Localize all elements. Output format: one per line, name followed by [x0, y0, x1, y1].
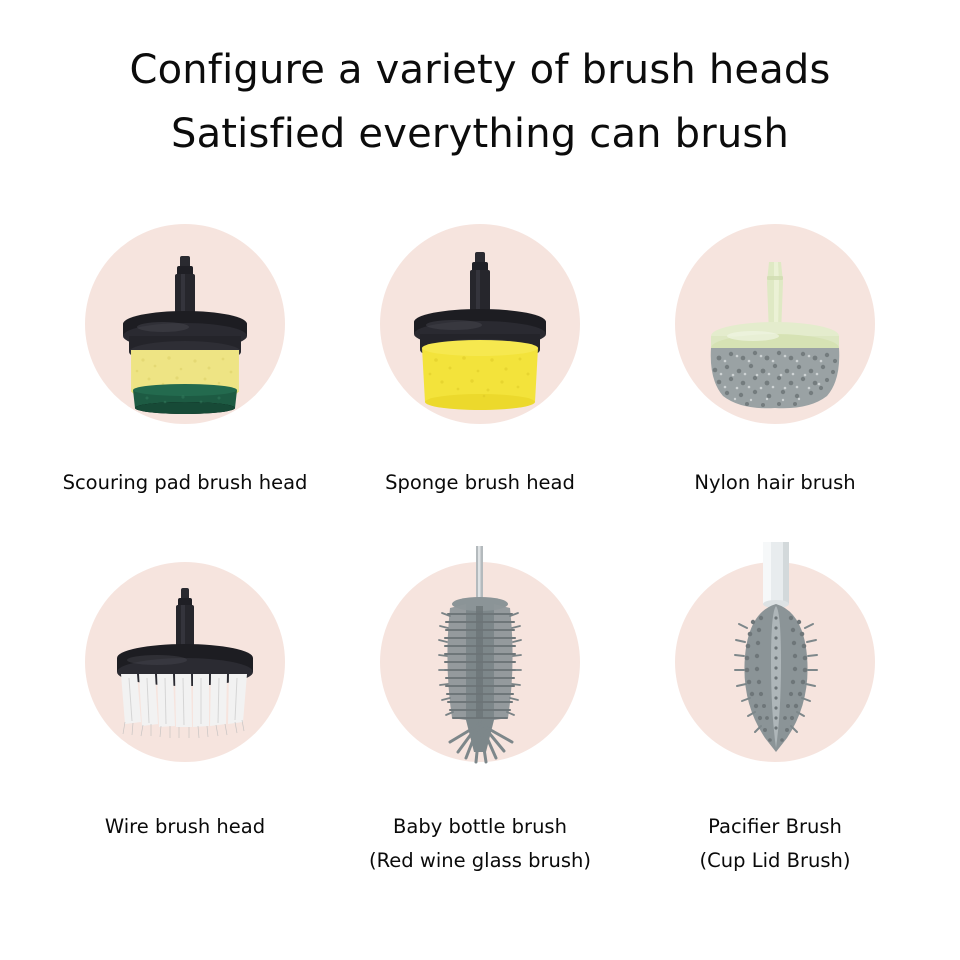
- product-image-circle: [675, 562, 875, 762]
- product-caption: Sponge brush head: [385, 466, 575, 500]
- pacifier-brush-icon: [675, 552, 875, 772]
- product-caption-main: Scouring pad brush head: [63, 471, 308, 494]
- nylon-hair-brush-icon: [675, 224, 875, 424]
- product-caption: Baby bottle brush (Red wine glass brush): [369, 810, 591, 878]
- page-title-line-1: Configure a variety of brush heads: [0, 44, 960, 96]
- product-cell-sponge: Sponge brush head: [333, 224, 628, 500]
- product-caption: Pacifier Brush (Cup Lid Brush): [700, 810, 851, 878]
- product-grid: Scouring pad brush head: [0, 224, 960, 878]
- product-caption: Wire brush head: [105, 810, 265, 844]
- product-image-circle: [85, 562, 285, 762]
- product-caption: Scouring pad brush head: [63, 466, 308, 500]
- product-caption: Nylon hair brush: [694, 466, 855, 500]
- heading-block: Configure a variety of brush heads Satis…: [0, 44, 960, 160]
- scouring-pad-brush-icon: [85, 224, 285, 424]
- product-row-bottom: Wire brush head: [0, 562, 960, 878]
- product-caption-sub: (Red wine glass brush): [369, 844, 591, 878]
- product-cell-pacifier: Pacifier Brush (Cup Lid Brush): [628, 562, 923, 878]
- product-image-circle: [380, 562, 580, 762]
- product-cell-scouring-pad: Scouring pad brush head: [38, 224, 333, 500]
- product-image-circle: [675, 224, 875, 424]
- product-caption-main: Wire brush head: [105, 815, 265, 838]
- product-caption-main: Sponge brush head: [385, 471, 575, 494]
- product-cell-wire: Wire brush head: [38, 562, 333, 844]
- product-caption-main: Baby bottle brush: [393, 815, 567, 838]
- page-title-line-2: Satisfied everything can brush: [0, 108, 960, 160]
- product-caption-sub: (Cup Lid Brush): [700, 844, 851, 878]
- wire-brush-icon: [85, 562, 285, 762]
- product-caption-main: Nylon hair brush: [694, 471, 855, 494]
- product-image-circle: [380, 224, 580, 424]
- baby-bottle-brush-icon: [380, 552, 580, 772]
- product-caption-main: Pacifier Brush: [708, 815, 842, 838]
- product-feature-page: Configure a variety of brush heads Satis…: [0, 0, 960, 960]
- product-cell-baby-bottle: Baby bottle brush (Red wine glass brush): [333, 562, 628, 878]
- sponge-brush-icon: [380, 224, 580, 424]
- product-image-circle: [85, 224, 285, 424]
- product-cell-nylon: Nylon hair brush: [628, 224, 923, 500]
- product-row-top: Scouring pad brush head: [0, 224, 960, 500]
